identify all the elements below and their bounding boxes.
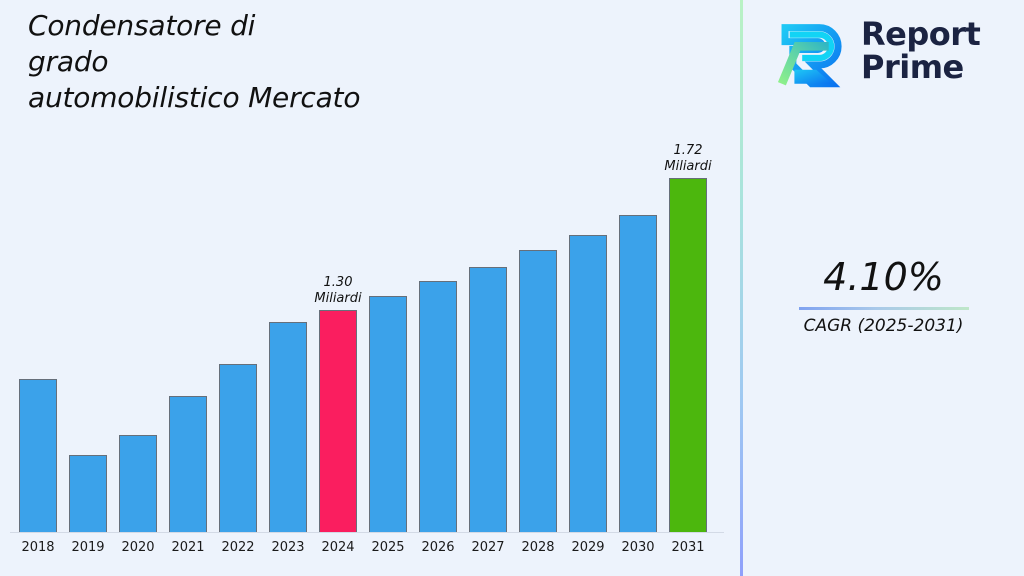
bar-2020[interactable] <box>119 435 157 532</box>
chart-panel: Condensatore di grado automobilistico Me… <box>0 0 740 576</box>
x-axis-tick-2030: 2030 <box>613 540 663 555</box>
x-axis-tick-2027: 2027 <box>463 540 513 555</box>
bar-2029[interactable] <box>569 235 607 532</box>
report-prime-r-logo-icon <box>771 12 849 90</box>
bar-2028[interactable] <box>519 250 557 532</box>
x-axis-tick-2025: 2025 <box>363 540 413 555</box>
x-axis-tick-2018: 2018 <box>13 540 63 555</box>
x-axis-tick-2022: 2022 <box>213 540 263 555</box>
brand-line-2: Prime <box>861 51 980 84</box>
bar-value-label-2031: 1.72 Miliardi <box>633 143 743 174</box>
chart-infographic: Condensatore di grado automobilistico Me… <box>0 0 1024 576</box>
x-axis-line <box>10 532 724 533</box>
x-axis-tick-2026: 2026 <box>413 540 463 555</box>
bar-2027[interactable] <box>469 267 507 532</box>
bar-2019[interactable] <box>69 455 107 532</box>
bar-2031[interactable] <box>669 178 707 532</box>
bar-2025[interactable] <box>369 296 407 532</box>
bar-2022[interactable] <box>219 364 257 532</box>
x-axis-tick-2023: 2023 <box>263 540 313 555</box>
bar-2030[interactable] <box>619 215 657 532</box>
x-axis-tick-2021: 2021 <box>163 540 213 555</box>
cagr-caption: CAGR (2025-2031) <box>743 316 1024 336</box>
bar-2023[interactable] <box>269 322 307 532</box>
bar-2024[interactable] <box>319 310 357 532</box>
x-axis-tick-2024: 2024 <box>313 540 363 555</box>
cagr-value: 4.10% <box>743 255 1024 299</box>
right-panel: Report Prime 4.10% CAGR (2025-2031) <box>743 0 1024 576</box>
cagr-divider-rule <box>799 307 969 310</box>
brand-logo: Report Prime <box>771 12 980 90</box>
bar-2021[interactable] <box>169 396 207 532</box>
x-axis-tick-2031: 2031 <box>663 540 713 555</box>
bar-2018[interactable] <box>19 379 57 532</box>
x-axis-tick-2020: 2020 <box>113 540 163 555</box>
bar-chart-plot: 2018201920202021202220231.30 Miliardi202… <box>0 0 740 576</box>
cagr-block: 4.10% CAGR (2025-2031) <box>743 255 1024 336</box>
x-axis-tick-2019: 2019 <box>63 540 113 555</box>
x-axis-tick-2029: 2029 <box>563 540 613 555</box>
x-axis-tick-2028: 2028 <box>513 540 563 555</box>
brand-wordmark: Report Prime <box>861 18 980 83</box>
bar-2026[interactable] <box>419 281 457 532</box>
